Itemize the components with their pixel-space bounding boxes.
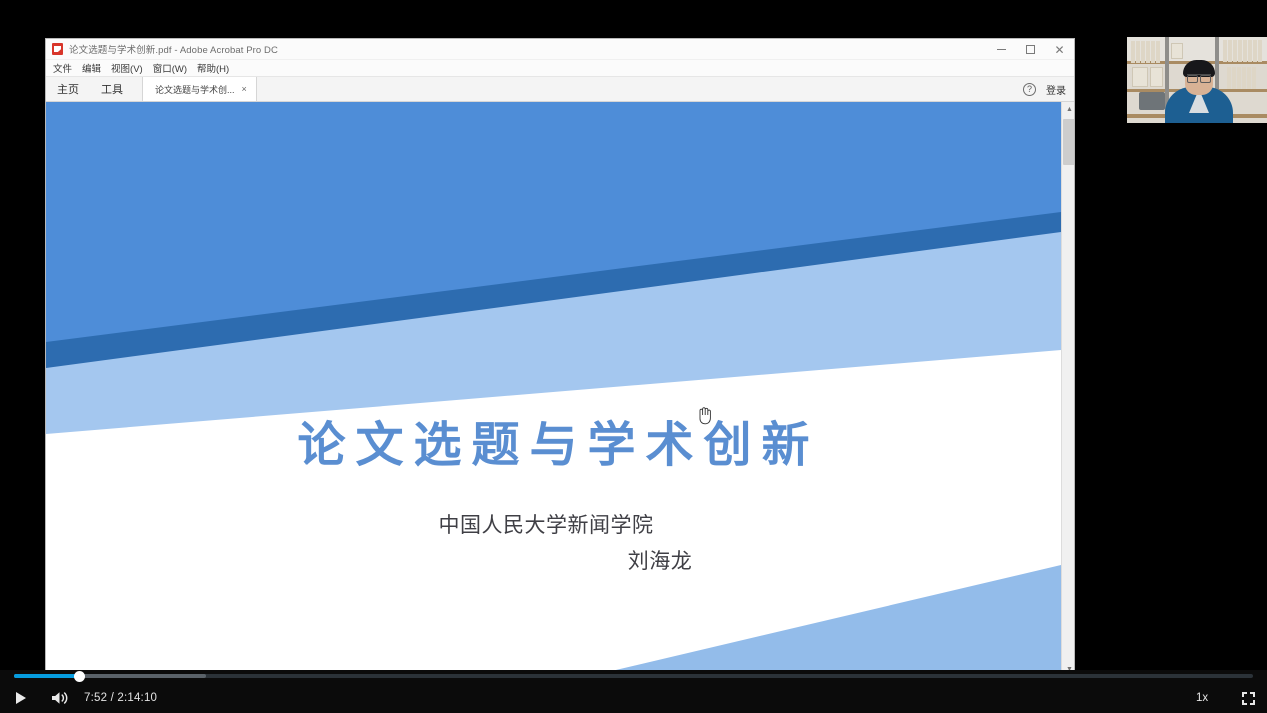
close-button[interactable]: ✕ (1045, 39, 1074, 60)
volume-button[interactable] (48, 684, 72, 712)
menu-edit[interactable]: 编辑 (82, 61, 101, 75)
scrollbar-up-arrow-icon[interactable]: ▲ (1062, 102, 1075, 117)
adobe-acrobat-window: 论文选题与学术创新.pdf - Adobe Acrobat Pro DC ✕ 文… (45, 38, 1075, 676)
tab-close-icon[interactable]: × (242, 84, 247, 94)
webcam-monitor (1139, 92, 1165, 110)
webcam-box-b (1150, 67, 1163, 87)
scrollbar-thumb[interactable] (1063, 119, 1075, 165)
tab-bar-right-group: ? 登录 (1023, 77, 1066, 102)
tab-document[interactable]: 论文选题与学术创... × (142, 77, 257, 101)
pdf-viewport[interactable]: 论文选题与学术创新 中国人民大学新闻学院 刘海龙 ▲ ▼ (46, 102, 1075, 676)
slide-subtitle-org: 中国人民大学新闻学院 (46, 509, 1061, 539)
close-icon: ✕ (1054, 44, 1064, 56)
menu-help[interactable]: 帮助(H) (197, 61, 229, 75)
window-titlebar: 论文选题与学术创新.pdf - Adobe Acrobat Pro DC ✕ (46, 39, 1074, 60)
menu-file[interactable]: 文件 (53, 61, 72, 75)
minimize-button[interactable] (987, 39, 1016, 60)
progress-bar-handle[interactable] (74, 671, 85, 682)
help-icon[interactable]: ? (1023, 83, 1036, 96)
signin-button[interactable]: 登录 (1046, 82, 1066, 97)
screen-root: 论文选题与学术创新.pdf - Adobe Acrobat Pro DC ✕ 文… (0, 0, 1267, 713)
time-display: 7:52 / 2:14:10 (84, 684, 157, 712)
pdf-slide-page[interactable]: 论文选题与学术创新 中国人民大学新闻学院 刘海龙 (46, 102, 1061, 676)
minimize-icon (997, 49, 1006, 50)
progress-bar-fill (14, 674, 81, 678)
menu-window[interactable]: 窗口(W) (153, 61, 187, 75)
exit-fullscreen-button[interactable] (1238, 684, 1258, 712)
play-icon (16, 692, 26, 704)
maximize-icon (1026, 45, 1035, 54)
volume-on-icon (50, 690, 70, 706)
play-button[interactable] (10, 684, 32, 712)
webcam-person-glasses (1187, 74, 1211, 80)
maximize-button[interactable] (1016, 39, 1045, 60)
webcam-box-c (1171, 43, 1183, 59)
video-player-controlbar: 7:52 / 2:14:10 1x (0, 670, 1267, 713)
slide-title: 论文选题与学术创新 (46, 405, 1061, 475)
window-title: 论文选题与学术创新.pdf - Adobe Acrobat Pro DC (69, 42, 278, 56)
presenter-webcam-overlay[interactable] (1127, 37, 1267, 123)
webcam-books-c (1227, 67, 1256, 89)
player-button-row: 7:52 / 2:14:10 1x (0, 684, 1267, 712)
tab-home[interactable]: 主页 (46, 77, 90, 101)
tab-tools[interactable]: 工具 (90, 77, 134, 101)
progress-bar-track[interactable] (14, 674, 1253, 678)
playback-speed-button[interactable]: 1x (1196, 684, 1208, 712)
webcam-books-a (1131, 41, 1160, 63)
menu-view[interactable]: 视图(V) (111, 61, 143, 75)
webcam-box-a (1132, 67, 1148, 87)
acrobat-pdf-icon (52, 43, 63, 55)
tab-document-label: 论文选题与学术创... (155, 83, 235, 96)
slide-subtitle-author: 刘海龙 (46, 545, 1061, 575)
webcam-books-b (1223, 40, 1262, 62)
pdf-vertical-scrollbar[interactable]: ▲ ▼ (1061, 102, 1075, 676)
exit-fullscreen-icon (1242, 692, 1255, 705)
window-controls: ✕ (987, 39, 1074, 60)
menu-bar: 文件 编辑 视图(V) 窗口(W) 帮助(H) (46, 60, 1074, 77)
tab-bar: 主页 工具 论文选题与学术创... × ? 登录 (46, 77, 1074, 102)
